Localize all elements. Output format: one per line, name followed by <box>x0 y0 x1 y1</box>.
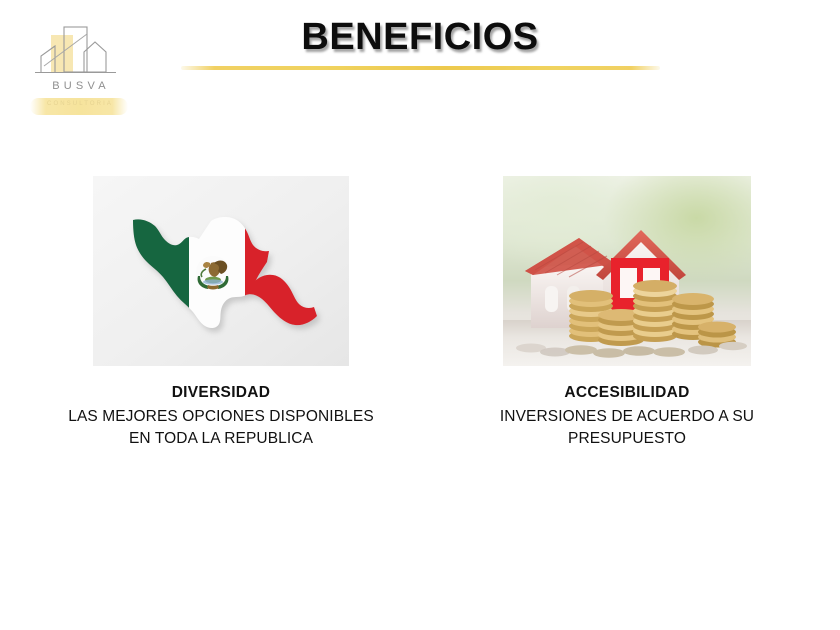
logo-wordmark: BUSVA <box>24 80 134 92</box>
title-underline-rule <box>181 66 660 70</box>
page-title: BENEFICIOS <box>0 16 840 59</box>
benefit-description-line-1: INVERSIONES DE ACUERDO A SU <box>428 406 826 428</box>
logo-tagline: CONSULTORIA <box>30 101 128 107</box>
house-with-coin-stacks-image <box>503 176 751 366</box>
benefit-caption-accesibilidad: ACCESIBILIDAD INVERSIONES DE ACUERDO A S… <box>428 382 826 450</box>
benefit-description-line-2: EN TODA LA REPUBLICA <box>14 428 428 450</box>
benefit-title: ACCESIBILIDAD <box>428 382 826 404</box>
benefit-card-accesibilidad: ACCESIBILIDAD INVERSIONES DE ACUERDO A S… <box>428 176 826 450</box>
mexico-map-flag-image <box>93 176 349 366</box>
benefit-description-line-2: PRESUPUESTO <box>428 428 826 450</box>
benefit-description-line-1: LAS MEJORES OPCIONES DISPONIBLES <box>14 406 428 428</box>
benefit-card-diversidad: DIVERSIDAD LAS MEJORES OPCIONES DISPONIB… <box>14 176 428 450</box>
benefit-title: DIVERSIDAD <box>14 382 428 404</box>
benefit-caption-diversidad: DIVERSIDAD LAS MEJORES OPCIONES DISPONIB… <box>14 382 428 450</box>
